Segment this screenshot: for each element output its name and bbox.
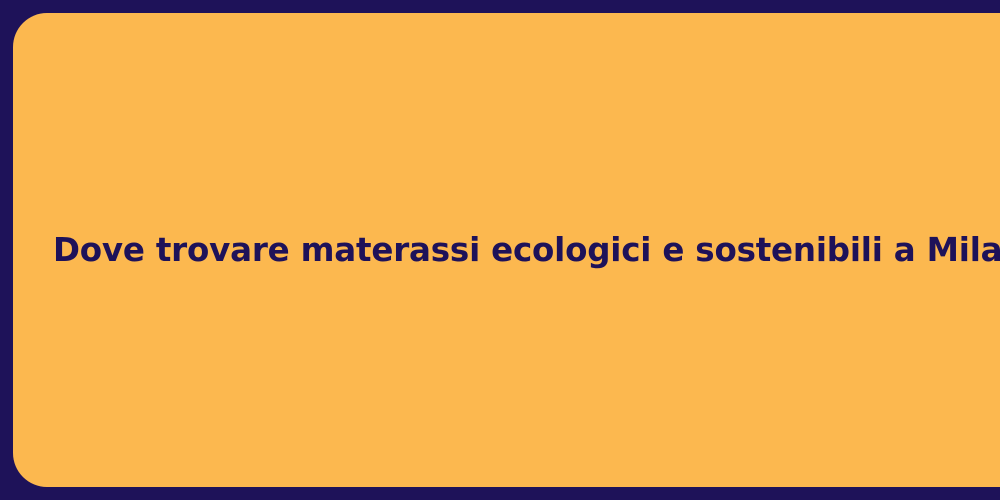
banner-frame: Dove trovare materassi ecologici e soste… <box>0 0 1000 500</box>
banner-heading: Dove trovare materassi ecologici e soste… <box>53 230 1000 271</box>
banner-card: Dove trovare materassi ecologici e soste… <box>13 13 1000 487</box>
